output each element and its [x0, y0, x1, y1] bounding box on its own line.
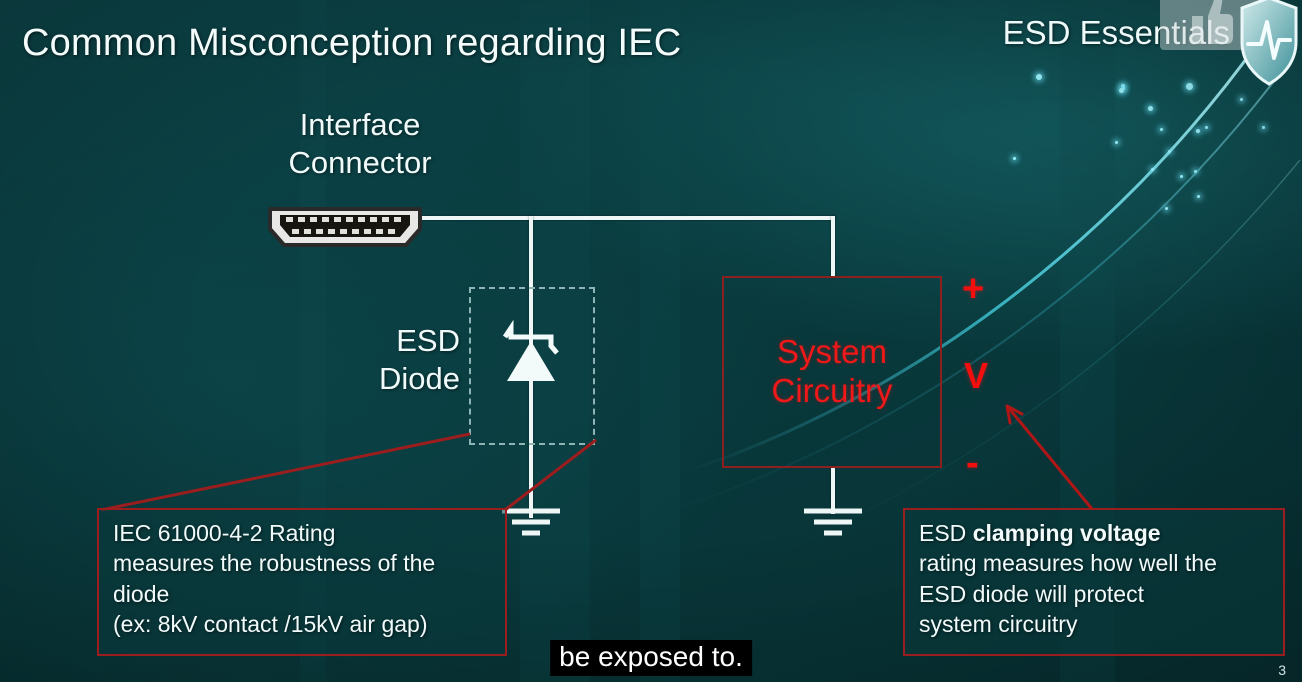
callout-left-line1: IEC 61000-4-2 Rating	[113, 518, 493, 548]
callout-iec-rating: IEC 61000-4-2 Rating measures the robust…	[97, 508, 507, 656]
callout-clamping-voltage: ESD clamping voltage rating measures how…	[903, 508, 1285, 656]
interface-connector-label: Interface Connector	[270, 106, 450, 182]
voltage-minus-marker: -	[966, 442, 979, 485]
callout-right-line2: rating measures how well the	[919, 548, 1271, 578]
slide-canvas: Common Misconception regarding IEC ESD E…	[0, 0, 1302, 682]
ground-symbol-diode	[498, 505, 564, 541]
interface-label-line1: Interface	[270, 106, 450, 144]
system-circuitry-line1: System	[777, 333, 887, 372]
esd-label-line2: Diode	[350, 360, 460, 398]
esd-diode-label: ESD Diode	[350, 322, 460, 398]
callout-left-line3: diode	[113, 579, 493, 609]
esd-label-line1: ESD	[350, 322, 460, 360]
interface-connector-icon	[266, 203, 424, 249]
callout-right-line3: ESD diode will protect	[919, 579, 1271, 609]
page-number: 3	[1278, 662, 1286, 678]
voltage-v-marker: V	[964, 355, 988, 397]
callout-right-line1-bold: clamping voltage	[973, 520, 1161, 546]
voltage-plus-marker: +	[962, 268, 984, 311]
thumbs-up-icon	[1186, 0, 1242, 48]
interface-label-line2: Connector	[270, 144, 450, 182]
page-title: Common Misconception regarding IEC	[22, 22, 681, 65]
shield-heartbeat-logo	[1238, 0, 1300, 88]
tvs-diode-symbol	[487, 315, 577, 395]
ground-symbol-system	[800, 505, 866, 541]
callout-right-line4: system circuitry	[919, 609, 1271, 639]
system-circuitry-line2: Circuitry	[772, 372, 893, 411]
system-circuitry-box: System Circuitry	[722, 276, 942, 468]
callout-right-line1-prefix: ESD	[919, 520, 973, 546]
callout-left-line4: (ex: 8kV contact /15kV air gap)	[113, 609, 493, 639]
callout-right-line1: ESD clamping voltage	[919, 518, 1271, 548]
callout-left-line2: measures the robustness of the	[113, 548, 493, 578]
wire-branch-to-system	[831, 216, 835, 278]
wire-main-horizontal	[420, 216, 835, 220]
video-caption: be exposed to.	[550, 640, 752, 676]
